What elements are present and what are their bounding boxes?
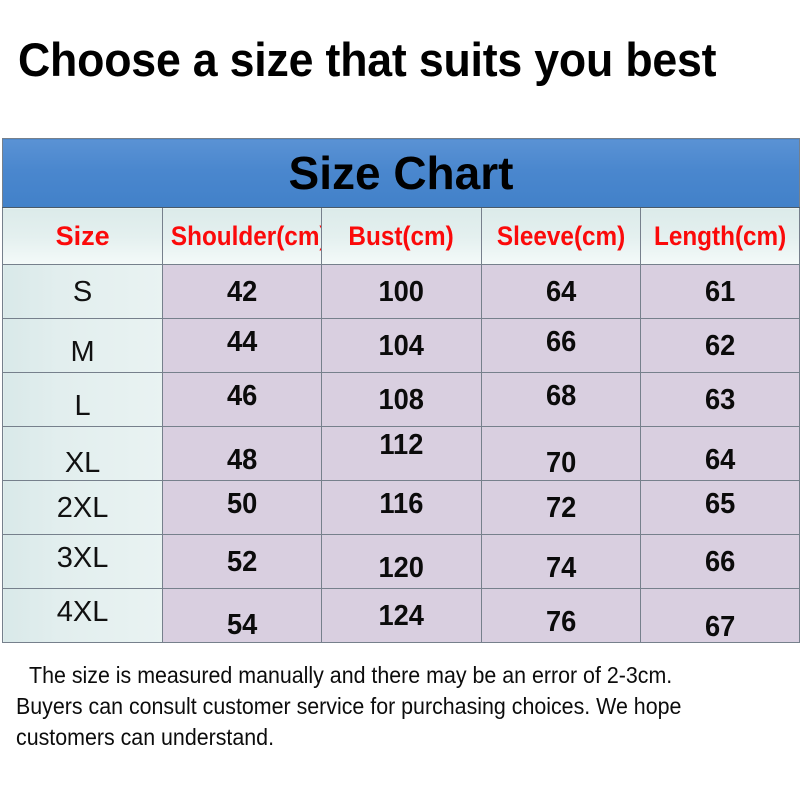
- disclaimer-line-1: The size is measured manually and there …: [16, 660, 738, 691]
- bust-value: 124: [379, 600, 424, 632]
- cell-length: 64: [640, 427, 799, 481]
- cell-shoulder: 54: [163, 589, 322, 643]
- column-header-bust-label: Bust(cm): [330, 221, 472, 251]
- cell-length: 66: [640, 535, 799, 589]
- disclaimer-line-2: Buyers can consult customer service for …: [16, 691, 738, 722]
- cell-shoulder: 52: [163, 535, 322, 589]
- column-header-length: Length(cm): [640, 208, 799, 265]
- table-row: 4XL 54 124 76 67: [3, 589, 800, 643]
- cell-size: XL: [3, 427, 163, 481]
- table-row: L 46 108 68 63: [3, 373, 800, 427]
- cell-sleeve: 76: [481, 589, 640, 643]
- cell-bust: 116: [322, 481, 481, 535]
- column-header-bust: Bust(cm): [322, 208, 481, 265]
- shoulder-value: 54: [227, 609, 257, 641]
- column-header-size: Size: [3, 208, 163, 265]
- table-row: 2XL 50 116 72 65: [3, 481, 800, 535]
- cell-size: S: [3, 265, 163, 319]
- cell-shoulder: 42: [163, 265, 322, 319]
- table-row: S 42 100 64 61: [3, 265, 800, 319]
- shoulder-value: 52: [227, 546, 257, 578]
- cell-bust: 108: [322, 373, 481, 427]
- size-label: L: [75, 390, 91, 422]
- cell-sleeve: 66: [481, 319, 640, 373]
- column-header-sleeve: Sleeve(cm): [481, 208, 640, 265]
- sleeve-value: 66: [545, 326, 575, 358]
- sleeve-value: 70: [545, 447, 575, 479]
- table-header-row: Size Shoulder(cm) Bust(cm) Sleeve(cm) Le…: [3, 208, 800, 265]
- length-value: 61: [705, 276, 735, 308]
- length-value: 66: [705, 546, 735, 578]
- cell-size: L: [3, 373, 163, 427]
- size-label: S: [73, 276, 92, 308]
- cell-bust: 112: [322, 427, 481, 481]
- cell-length: 61: [640, 265, 799, 319]
- cell-length: 62: [640, 319, 799, 373]
- cell-shoulder: 48: [163, 427, 322, 481]
- cell-shoulder: 50: [163, 481, 322, 535]
- shoulder-value: 50: [227, 488, 257, 520]
- banner-cell: Size Chart: [3, 139, 800, 208]
- page-title: Choose a size that suits you best: [18, 32, 750, 88]
- shoulder-value: 48: [227, 444, 257, 476]
- disclaimer-line-3: customers can understand.: [16, 722, 738, 753]
- length-value: 65: [705, 488, 735, 520]
- column-header-sleeve-label: Sleeve(cm): [489, 221, 631, 251]
- table-row: XL 48 112 70 64: [3, 427, 800, 481]
- sleeve-value: 72: [545, 492, 575, 524]
- bust-value: 104: [379, 330, 424, 362]
- cell-sleeve: 68: [481, 373, 640, 427]
- cell-length: 65: [640, 481, 799, 535]
- shoulder-value: 42: [227, 276, 257, 308]
- cell-sleeve: 64: [481, 265, 640, 319]
- measurement-disclaimer: The size is measured manually and there …: [16, 660, 738, 753]
- bust-value: 112: [379, 429, 423, 461]
- bust-value: 100: [379, 276, 424, 308]
- length-value: 63: [705, 384, 735, 416]
- length-value: 67: [705, 611, 735, 643]
- size-label: 4XL: [57, 596, 109, 628]
- cell-length: 63: [640, 373, 799, 427]
- size-label: 3XL: [57, 542, 109, 574]
- cell-length: 67: [640, 589, 799, 643]
- cell-size: M: [3, 319, 163, 373]
- cell-sleeve: 70: [481, 427, 640, 481]
- size-label: XL: [65, 447, 100, 479]
- cell-bust: 124: [322, 589, 481, 643]
- column-header-shoulder: Shoulder(cm): [163, 208, 322, 265]
- cell-shoulder: 46: [163, 373, 322, 427]
- bust-value: 108: [379, 384, 424, 416]
- cell-sleeve: 72: [481, 481, 640, 535]
- length-value: 62: [705, 330, 735, 362]
- cell-size: 2XL: [3, 481, 163, 535]
- cell-bust: 120: [322, 535, 481, 589]
- shoulder-value: 46: [227, 380, 257, 412]
- cell-shoulder: 44: [163, 319, 322, 373]
- bust-value: 120: [379, 552, 424, 584]
- bust-value: 116: [379, 488, 423, 520]
- column-header-shoulder-label: Shoulder(cm): [171, 221, 313, 251]
- sleeve-value: 74: [545, 552, 575, 584]
- column-header-length-label: Length(cm): [649, 221, 791, 251]
- size-chart-banner-label: Size Chart: [289, 147, 514, 199]
- cell-sleeve: 74: [481, 535, 640, 589]
- sleeve-value: 68: [545, 380, 575, 412]
- length-value: 64: [705, 444, 735, 476]
- column-header-size-label: Size: [3, 221, 162, 251]
- cell-size: 3XL: [3, 535, 163, 589]
- sleeve-value: 64: [545, 276, 575, 308]
- size-label: 2XL: [57, 492, 109, 524]
- size-label: M: [71, 336, 95, 368]
- cell-size: 4XL: [3, 589, 163, 643]
- table-row: 3XL 52 120 74 66: [3, 535, 800, 589]
- table-row: M 44 104 66 62: [3, 319, 800, 373]
- size-chart-table: Size Chart Size Shoulder(cm) Bust(cm) Sl…: [2, 138, 800, 643]
- shoulder-value: 44: [227, 326, 257, 358]
- table-banner-row: Size Chart: [3, 139, 800, 208]
- cell-bust: 100: [322, 265, 481, 319]
- cell-bust: 104: [322, 319, 481, 373]
- sleeve-value: 76: [545, 606, 575, 638]
